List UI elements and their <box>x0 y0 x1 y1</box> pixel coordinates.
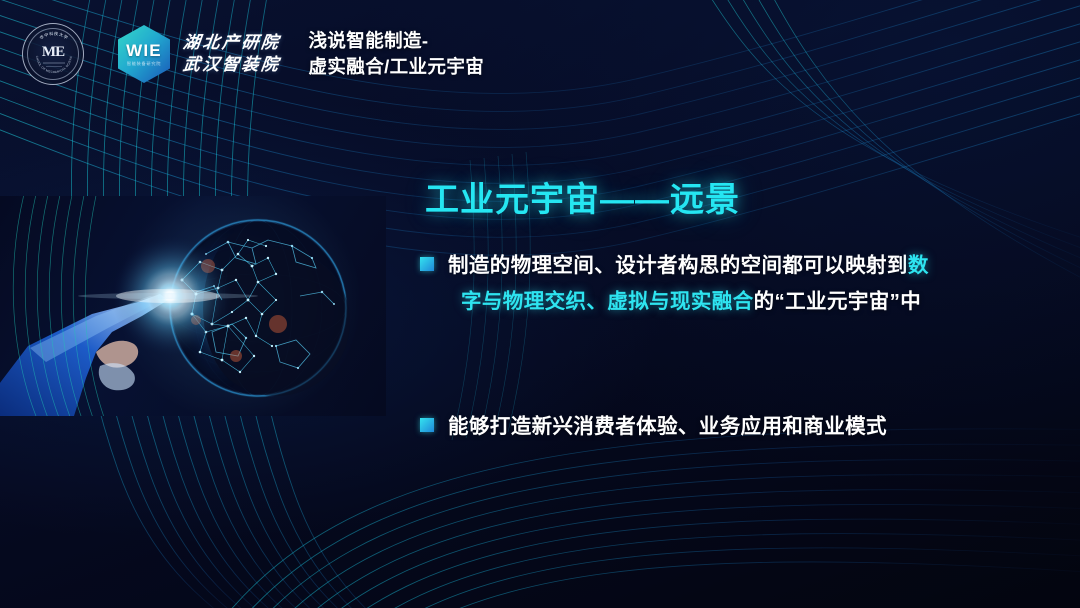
bullet1-line1-white: 制造的物理空间、设计者构思的空间都可以映射到 <box>448 254 908 277</box>
wie-logo-text: WIE <box>126 42 162 59</box>
bullet-list: 制造的物理空间、设计者构思的空间都可以映射到数字与物理交织、虚拟与现实融合的“工… <box>420 248 1020 445</box>
slide-header: 华中科技大学 SCHOOL OF MECHANICAL SCIENCE ME <box>0 0 1080 108</box>
institute-logo-group: WIE 智能装备研究院 湖北产研院 武汉智装院 <box>116 24 281 84</box>
deck-title: 浅说智能制造- 虚实融合/工业元宇宙 <box>309 28 485 81</box>
deck-title-line-1: 浅说智能制造- <box>309 28 485 54</box>
deck-title-line-2: 虚实融合/工业元宇宙 <box>309 54 485 80</box>
hero-globe-image <box>0 196 386 416</box>
calligraphy-line-1: 湖北产研院 <box>182 32 282 54</box>
seal-monogram: ME <box>42 45 64 60</box>
bullet-text-2: 能够打造新兴消费者体验、业务应用和商业模式 <box>448 409 887 445</box>
wie-hexagon-logo: WIE 智能装备研究院 <box>116 24 172 84</box>
bullet1-line2-cyan: 字与物理交织、虚拟与现实融合 <box>461 290 754 313</box>
list-item: 能够打造新兴消费者体验、业务应用和商业模式 <box>420 409 1020 445</box>
bullet-square-icon <box>420 418 434 432</box>
bullet-square-icon <box>420 257 434 271</box>
institute-calligraphy: 湖北产研院 武汉智装院 <box>183 32 281 77</box>
bullet-text-1: 制造的物理空间、设计者构思的空间都可以映射到数字与物理交织、虚拟与现实融合的“工… <box>448 248 929 321</box>
bullet1-line1-cyan: 数 <box>908 254 929 277</box>
list-item: 制造的物理空间、设计者构思的空间都可以映射到数字与物理交织、虚拟与现实融合的“工… <box>420 248 1020 321</box>
svg-text:华中科技大学: 华中科技大学 <box>38 30 70 41</box>
slide-canvas: 华中科技大学 SCHOOL OF MECHANICAL SCIENCE ME <box>0 0 1080 608</box>
wie-logo-subtext: 智能装备研究院 <box>127 62 161 66</box>
digital-globe-illustration <box>0 196 386 416</box>
university-seal-emblem: 华中科技大学 SCHOOL OF MECHANICAL SCIENCE ME <box>22 23 84 85</box>
calligraphy-line-2: 武汉智装院 <box>182 54 282 76</box>
page-title: 工业元宇宙——远景 <box>425 172 740 221</box>
bullet1-line2-white: 的“工业元宇宙”中 <box>754 290 922 313</box>
